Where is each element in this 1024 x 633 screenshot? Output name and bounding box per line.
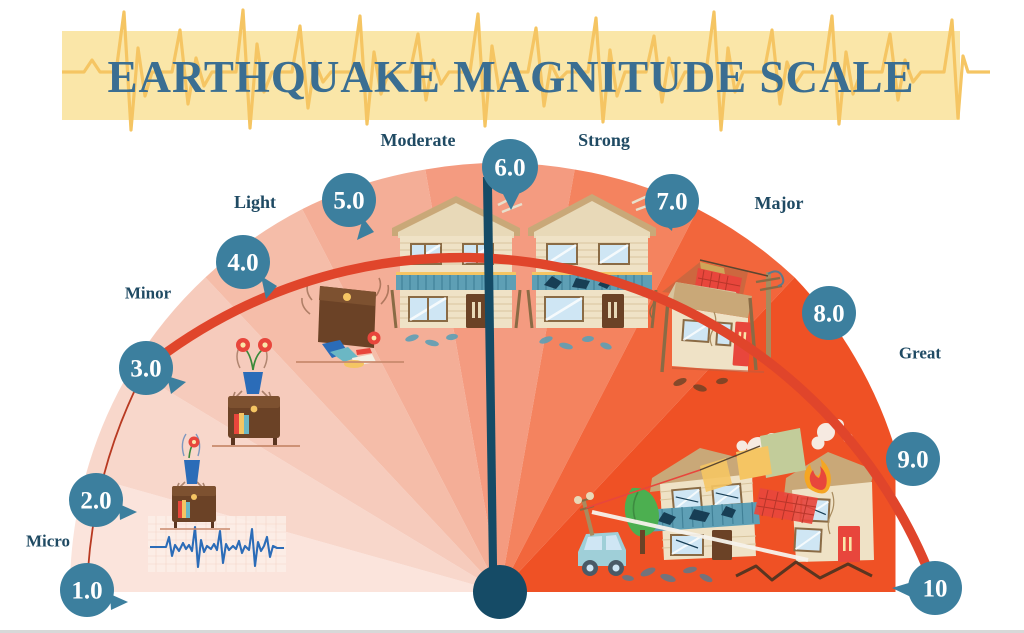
magnitude-bubble-4[interactable]: 4.0 bbox=[216, 235, 277, 299]
magnitude-bubble-3[interactable]: 3.0 bbox=[119, 341, 186, 395]
magnitude-bubble-9-label: 9.0 bbox=[897, 447, 928, 474]
magnitude-bubble-10-label: 10 bbox=[923, 576, 948, 603]
magnitude-bubble-4-label: 4.0 bbox=[227, 250, 258, 277]
category-label-major: Major bbox=[755, 193, 804, 213]
magnitude-bubble-8-label: 8.0 bbox=[813, 301, 844, 328]
magnitude-bubble-6[interactable]: 6.0 bbox=[482, 139, 538, 210]
magnitude-bubble-1[interactable]: 1.0 bbox=[60, 563, 128, 617]
magnitude-bubble-7-label: 7.0 bbox=[656, 189, 687, 216]
infographic-canvas: EARTHQUAKE MAGNITUDE SCALE bbox=[0, 0, 1024, 633]
magnitude-bubble-2[interactable]: 2.0 bbox=[69, 473, 137, 527]
category-label-strong: Strong bbox=[578, 130, 630, 150]
category-label-great: Great bbox=[899, 344, 942, 363]
magnitude-bubble-10[interactable]: 10 bbox=[892, 561, 962, 615]
magnitude-markers: 1.0 2.0 3.0 4.0 5.0 6.0 bbox=[0, 0, 1024, 633]
category-label-minor: Minor bbox=[125, 284, 172, 303]
category-label-light: Light bbox=[234, 192, 276, 212]
magnitude-bubble-5-label: 5.0 bbox=[333, 188, 364, 215]
category-label-micro: Micro bbox=[26, 532, 70, 551]
magnitude-bubble-8[interactable]: 8.0 bbox=[802, 286, 856, 340]
magnitude-bubble-6-label: 6.0 bbox=[494, 155, 525, 182]
magnitude-bubble-3-label: 3.0 bbox=[130, 356, 161, 383]
magnitude-bubble-9[interactable]: 9.0 bbox=[886, 432, 940, 486]
category-label-moderate: Moderate bbox=[381, 130, 456, 150]
magnitude-bubble-5[interactable]: 5.0 bbox=[322, 173, 376, 240]
magnitude-bubble-1-label: 1.0 bbox=[71, 578, 102, 605]
magnitude-bubble-7[interactable]: 7.0 bbox=[645, 174, 699, 231]
magnitude-bubble-2-label: 2.0 bbox=[80, 488, 111, 515]
